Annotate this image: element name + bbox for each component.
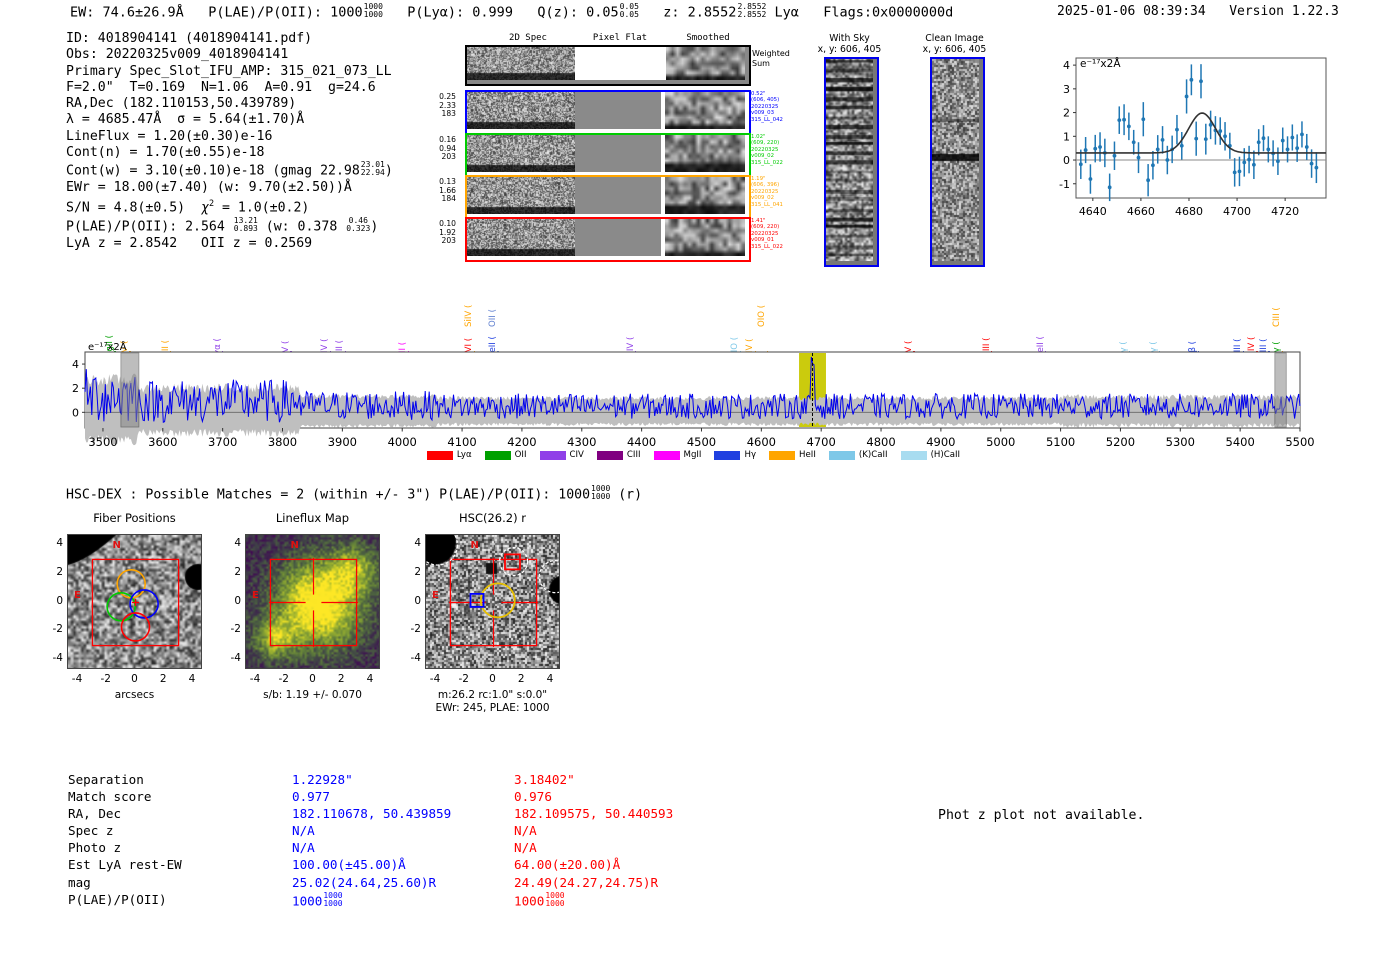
svg-text:4680: 4680 bbox=[1175, 205, 1203, 218]
fiber-right-labels: 0.52"(606, 405)20220325v009_03315_LL_042 bbox=[751, 91, 783, 123]
x-tick: 0 bbox=[304, 673, 322, 685]
panel-title: HSC(26.2) r bbox=[395, 513, 590, 524]
info-obs: Obs: 20220325v009_4018904141 bbox=[66, 47, 393, 63]
legend-swatch bbox=[769, 451, 795, 460]
svg-text:e⁻¹⁷x2Å: e⁻¹⁷x2Å bbox=[1080, 57, 1121, 70]
svg-text:5200: 5200 bbox=[1106, 435, 1135, 449]
y-tick: -4 bbox=[223, 652, 241, 664]
col-title-smoothed: Smoothed bbox=[668, 33, 748, 43]
y-tick: 0 bbox=[403, 595, 421, 607]
y-tick: 0 bbox=[223, 595, 241, 607]
y-tick: 4 bbox=[45, 537, 63, 549]
row-label: Spec z bbox=[68, 823, 290, 838]
legend-label: CIV bbox=[570, 450, 584, 460]
match-value: 64.00(±20.00)Å bbox=[514, 857, 734, 872]
panel-title: Lineflux Map bbox=[215, 513, 410, 524]
table-row: RA, Dec182.110678, 50.439859182.109575, … bbox=[68, 806, 734, 821]
fiber-right-labels: 1.02"(609, 220)20220325v009_02315_LL_022 bbox=[751, 134, 783, 166]
header-summary-line: EW: 74.6±26.9Å P(LAE)/P(OII): 1000100010… bbox=[70, 3, 953, 21]
match-value: 182.110678, 50.439859 bbox=[292, 806, 512, 821]
legend-item: (H)CaII bbox=[901, 450, 961, 460]
fiber-left-labels: 0.131.66184 bbox=[418, 178, 456, 204]
cutout-title: With Skyx, y: 606, 405 bbox=[812, 33, 887, 55]
svg-text:5400: 5400 bbox=[1226, 435, 1255, 449]
svg-text:5300: 5300 bbox=[1166, 435, 1195, 449]
table-row: Spec zN/AN/A bbox=[68, 823, 734, 838]
row-label: Match score bbox=[68, 789, 290, 804]
clean-image bbox=[930, 57, 985, 267]
compass-east: E bbox=[432, 590, 439, 601]
legend-item: CIII bbox=[597, 450, 641, 460]
legend-swatch bbox=[597, 451, 623, 460]
cutout-image[interactable] bbox=[425, 534, 560, 669]
legend-label: HeII bbox=[799, 450, 816, 460]
header-z-range: 2.85522.8552 bbox=[737, 3, 766, 19]
table-row: mag25.02(24.64,25.60)R24.49(24.27,24.75)… bbox=[68, 875, 734, 890]
row-label: Separation bbox=[68, 772, 290, 787]
header-ew: EW: 74.6±26.9Å bbox=[70, 5, 184, 21]
fiber-row bbox=[465, 217, 751, 262]
legend-swatch bbox=[654, 451, 680, 460]
fiber-right-labels: 1.19"(606, 396)20220325v009_02315_LL_041 bbox=[751, 176, 783, 208]
with-sky-image bbox=[824, 57, 879, 267]
legend-swatch bbox=[540, 451, 566, 460]
x-tick: 2 bbox=[154, 673, 172, 685]
photoz-message: Phot z plot not available. bbox=[938, 808, 1144, 823]
x-tick: -2 bbox=[275, 673, 293, 685]
cutout-image[interactable] bbox=[67, 534, 202, 669]
legend-label: CIII bbox=[627, 450, 641, 460]
match-value: 100.00(±45.00)Å bbox=[292, 857, 512, 872]
svg-text:0: 0 bbox=[72, 406, 79, 419]
line-fit-plot: -10123446404660468047004720e⁻¹⁷x2Å bbox=[1034, 40, 1334, 255]
header-z-line: Lyα bbox=[774, 5, 798, 21]
x-tick: 4 bbox=[541, 673, 559, 685]
hsc-header-text: HSC-DEX : Possible Matches = 2 (within +… bbox=[66, 488, 590, 503]
legend-label: Lyα bbox=[457, 450, 472, 460]
compass-east: E bbox=[252, 590, 259, 601]
svg-text:4: 4 bbox=[72, 358, 79, 371]
x-tick: 2 bbox=[332, 673, 350, 685]
panel-caption: m:26.2 rc:1.0" s:0.0"EWr: 245, PLAE: 100… bbox=[385, 689, 600, 715]
svg-text:2: 2 bbox=[1063, 107, 1070, 120]
info-sn-chi2: S/N = 4.8(±0.5) χ2 = 1.0(±0.2) bbox=[66, 196, 393, 217]
legend-item: Lyα bbox=[427, 450, 472, 460]
svg-text:3500: 3500 bbox=[88, 435, 117, 449]
x-tick: -2 bbox=[455, 673, 473, 685]
fiber-row bbox=[465, 133, 751, 178]
legend-item: (K)CaII bbox=[829, 450, 888, 460]
match-value: N/A bbox=[514, 823, 734, 838]
svg-text:4: 4 bbox=[1063, 59, 1070, 72]
match-table: Separation1.22928"3.18402"Match score0.9… bbox=[66, 770, 736, 910]
header-qz: Q(z): 0.05 bbox=[537, 5, 618, 21]
legend-label: OII bbox=[515, 450, 527, 460]
x-tick: 2 bbox=[512, 673, 530, 685]
row-label: RA, Dec bbox=[68, 806, 290, 821]
cutout-overlay bbox=[68, 535, 202, 669]
cutout-image[interactable] bbox=[245, 534, 380, 669]
info-redshifts: LyA z = 2.8542 OII z = 0.2569 bbox=[66, 236, 393, 252]
col-title-pixelflat: Pixel Flat bbox=[580, 33, 660, 43]
x-tick: 4 bbox=[183, 673, 201, 685]
svg-text:4660: 4660 bbox=[1127, 205, 1155, 218]
compass-north: N bbox=[471, 540, 479, 551]
header-flags: Flags:0x0000000d bbox=[823, 5, 953, 21]
y-tick: 4 bbox=[403, 537, 421, 549]
header-z: z: 2.8552 bbox=[663, 5, 736, 21]
legend-item: HeII bbox=[769, 450, 816, 460]
y-tick: 2 bbox=[223, 566, 241, 578]
col-title-2dspec: 2D Spec bbox=[488, 33, 568, 43]
hsc-dex-header: HSC-DEX : Possible Matches = 2 (within +… bbox=[66, 485, 642, 503]
timestamp-value: 2025-01-06 08:39:34 bbox=[1057, 4, 1206, 19]
match-value: 182.109575, 50.440593 bbox=[514, 806, 734, 821]
legend-item: MgII bbox=[654, 450, 702, 460]
svg-text:5500: 5500 bbox=[1285, 435, 1314, 449]
svg-text:4400: 4400 bbox=[627, 435, 656, 449]
y-tick: 0 bbox=[45, 595, 63, 607]
match-value: N/A bbox=[514, 840, 734, 855]
info-primary-spec: Primary Spec_Slot_IFU_AMP: 315_021_073_L… bbox=[66, 64, 393, 80]
match-value: 24.49(24.27,24.75)R bbox=[514, 875, 734, 890]
y-tick: 2 bbox=[45, 566, 63, 578]
svg-text:4500: 4500 bbox=[687, 435, 716, 449]
svg-text:-1: -1 bbox=[1059, 178, 1070, 191]
svg-text:2: 2 bbox=[72, 382, 79, 395]
y-tick: -4 bbox=[45, 652, 63, 664]
x-tick: -4 bbox=[68, 673, 86, 685]
svg-text:3900: 3900 bbox=[328, 435, 357, 449]
svg-text:3800: 3800 bbox=[268, 435, 297, 449]
svg-text:0: 0 bbox=[1063, 154, 1070, 167]
line-fit-svg: -10123446404660468047004720e⁻¹⁷x2Å bbox=[1034, 40, 1334, 255]
cutout-overlay bbox=[246, 535, 380, 669]
info-cont-n: Cont(n) = 1.70(±0.55)e-18 bbox=[66, 145, 393, 161]
full-spectrum-panel: MgII (NV (SiII (Lyα (NV (CIV (SiII (CII … bbox=[0, 265, 1400, 465]
match-value: N/A bbox=[292, 823, 512, 838]
info-lineflux: LineFlux = 1.20(±0.30)e-16 bbox=[66, 129, 393, 145]
legend-swatch bbox=[485, 451, 511, 460]
hsc-header-band: (r) bbox=[618, 488, 642, 503]
fiber-row bbox=[465, 175, 751, 220]
y-tick: 4 bbox=[223, 537, 241, 549]
compass-north: N bbox=[113, 540, 121, 551]
match-value: 1.22928" bbox=[292, 772, 512, 787]
hsc-header-range: 10001000 bbox=[591, 485, 610, 501]
svg-text:4200: 4200 bbox=[507, 435, 536, 449]
timestamp-version: 2025-01-06 08:39:34 Version 1.22.3 bbox=[1057, 4, 1339, 19]
x-tick: 0 bbox=[484, 673, 502, 685]
fiber-row bbox=[465, 90, 751, 135]
object-info-block: ID: 4018904141 (4018904141.pdf) Obs: 202… bbox=[66, 31, 393, 252]
match-value: 3.18402" bbox=[514, 772, 734, 787]
svg-text:4100: 4100 bbox=[447, 435, 476, 449]
info-params: F=2.0" T=0.169 N=1.06 A=0.91 g=24.6 bbox=[66, 80, 393, 96]
header-plae: P(LAE)/P(OII): 1000 bbox=[208, 5, 362, 21]
info-id: ID: 4018904141 (4018904141.pdf) bbox=[66, 31, 393, 47]
legend-label: (H)CaII bbox=[931, 450, 961, 460]
header-plae-range: 10001000 bbox=[364, 3, 383, 19]
legend-label: Hγ bbox=[744, 450, 756, 460]
x-tick: -4 bbox=[426, 673, 444, 685]
y-tick: -2 bbox=[403, 623, 421, 635]
cutout-overlay bbox=[426, 535, 560, 669]
info-ewr: EWr = 18.00(±7.40) (w: 9.70(±2.50))Å bbox=[66, 180, 393, 196]
weighted-sum-label: WeightedSum bbox=[752, 49, 790, 68]
fiber-left-labels: 0.101.92203 bbox=[418, 220, 456, 246]
compass-north: N bbox=[291, 540, 299, 551]
svg-text:5000: 5000 bbox=[986, 435, 1015, 449]
match-value: 100010001000 bbox=[514, 892, 734, 909]
table-row: Est LyA rest-EW100.00(±45.00)Å64.00(±20.… bbox=[68, 857, 734, 872]
legend-label: (K)CaII bbox=[859, 450, 888, 460]
header-plya: P(Lyα): 0.999 bbox=[407, 5, 513, 21]
x-tick: -2 bbox=[97, 673, 115, 685]
x-tick: 4 bbox=[361, 673, 379, 685]
cutout-title: Clean Imagex, y: 606, 405 bbox=[912, 33, 997, 55]
info-lambda-sigma: λ = 4685.47Å σ = 5.64(±1.70)Å bbox=[66, 112, 393, 128]
svg-text:4700: 4700 bbox=[1223, 205, 1251, 218]
legend-label: MgII bbox=[684, 450, 702, 460]
svg-text:4600: 4600 bbox=[747, 435, 776, 449]
row-label: mag bbox=[68, 875, 290, 890]
legend-swatch bbox=[829, 451, 855, 460]
match-value: 100010001000 bbox=[292, 892, 512, 909]
weighted-sum-strip bbox=[465, 45, 751, 86]
svg-text:4700: 4700 bbox=[807, 435, 836, 449]
y-tick: 2 bbox=[403, 566, 421, 578]
svg-text:4000: 4000 bbox=[388, 435, 417, 449]
info-radec: RA,Dec (182.110153,50.439789) bbox=[66, 96, 393, 112]
row-label: Est LyA rest-EW bbox=[68, 857, 290, 872]
compass-east: E bbox=[74, 590, 81, 601]
legend-item: CIV bbox=[540, 450, 584, 460]
legend-item: Hγ bbox=[714, 450, 756, 460]
table-row: Match score0.9770.976 bbox=[68, 789, 734, 804]
info-plae: P(LAE)/P(OII): 2.564 13.210.893 (w: 0.37… bbox=[66, 217, 393, 236]
match-value: 0.977 bbox=[292, 789, 512, 804]
x-tick: 0 bbox=[126, 673, 144, 685]
svg-text:4720: 4720 bbox=[1271, 205, 1299, 218]
y-tick: -2 bbox=[223, 623, 241, 635]
fiber-right-labels: 1.41"(609, 220)20220325v009_01315_LL_022 bbox=[751, 218, 783, 250]
fiber-left-labels: 0.160.94203 bbox=[418, 136, 456, 162]
y-tick: -4 bbox=[403, 652, 421, 664]
row-label: Photo z bbox=[68, 840, 290, 855]
table-row: P(LAE)/P(OII)100010001000100010001000 bbox=[68, 892, 734, 909]
legend-swatch bbox=[901, 451, 927, 460]
info-cont-w: Cont(w) = 3.10(±0.10)e-18 (gmag 22.9823.… bbox=[66, 161, 393, 180]
legend-item: OII bbox=[485, 450, 527, 460]
legend-swatch bbox=[427, 451, 453, 460]
svg-text:3700: 3700 bbox=[208, 435, 237, 449]
svg-text:4800: 4800 bbox=[866, 435, 895, 449]
svg-text:4640: 4640 bbox=[1079, 205, 1107, 218]
match-value: 0.976 bbox=[514, 789, 734, 804]
header-qz-range: 0.050.05 bbox=[620, 3, 639, 19]
2d-spectrum-panel: 2D Spec Pixel Flat Smoothed WeightedSum … bbox=[460, 33, 760, 255]
table-row: Photo zN/AN/A bbox=[68, 840, 734, 855]
panel-title: Fiber Positions bbox=[37, 513, 232, 524]
svg-text:e⁻¹⁷x2Å: e⁻¹⁷x2Å bbox=[88, 340, 127, 353]
svg-text:4300: 4300 bbox=[567, 435, 596, 449]
svg-text:1: 1 bbox=[1063, 130, 1070, 143]
x-tick: -4 bbox=[246, 673, 264, 685]
legend-swatch bbox=[714, 451, 740, 460]
version-value: Version 1.22.3 bbox=[1229, 4, 1339, 19]
svg-text:3600: 3600 bbox=[148, 435, 177, 449]
svg-text:4900: 4900 bbox=[926, 435, 955, 449]
match-value: 25.02(24.64,25.60)R bbox=[292, 875, 512, 890]
row-label: P(LAE)/P(OII) bbox=[68, 892, 290, 909]
svg-text:3: 3 bbox=[1063, 83, 1070, 96]
match-value: N/A bbox=[292, 840, 512, 855]
y-tick: -2 bbox=[45, 623, 63, 635]
fiber-left-labels: 0.252.33183 bbox=[418, 93, 456, 119]
spectrum-legend: LyαOIICIVCIIIMgIIHγHeII(K)CaII(H)CaII bbox=[0, 450, 1400, 460]
full-spectrum-svg: 0243500360037003800390040004100420043004… bbox=[0, 265, 1400, 465]
svg-text:5100: 5100 bbox=[1046, 435, 1075, 449]
table-row: Separation1.22928"3.18402" bbox=[68, 772, 734, 787]
